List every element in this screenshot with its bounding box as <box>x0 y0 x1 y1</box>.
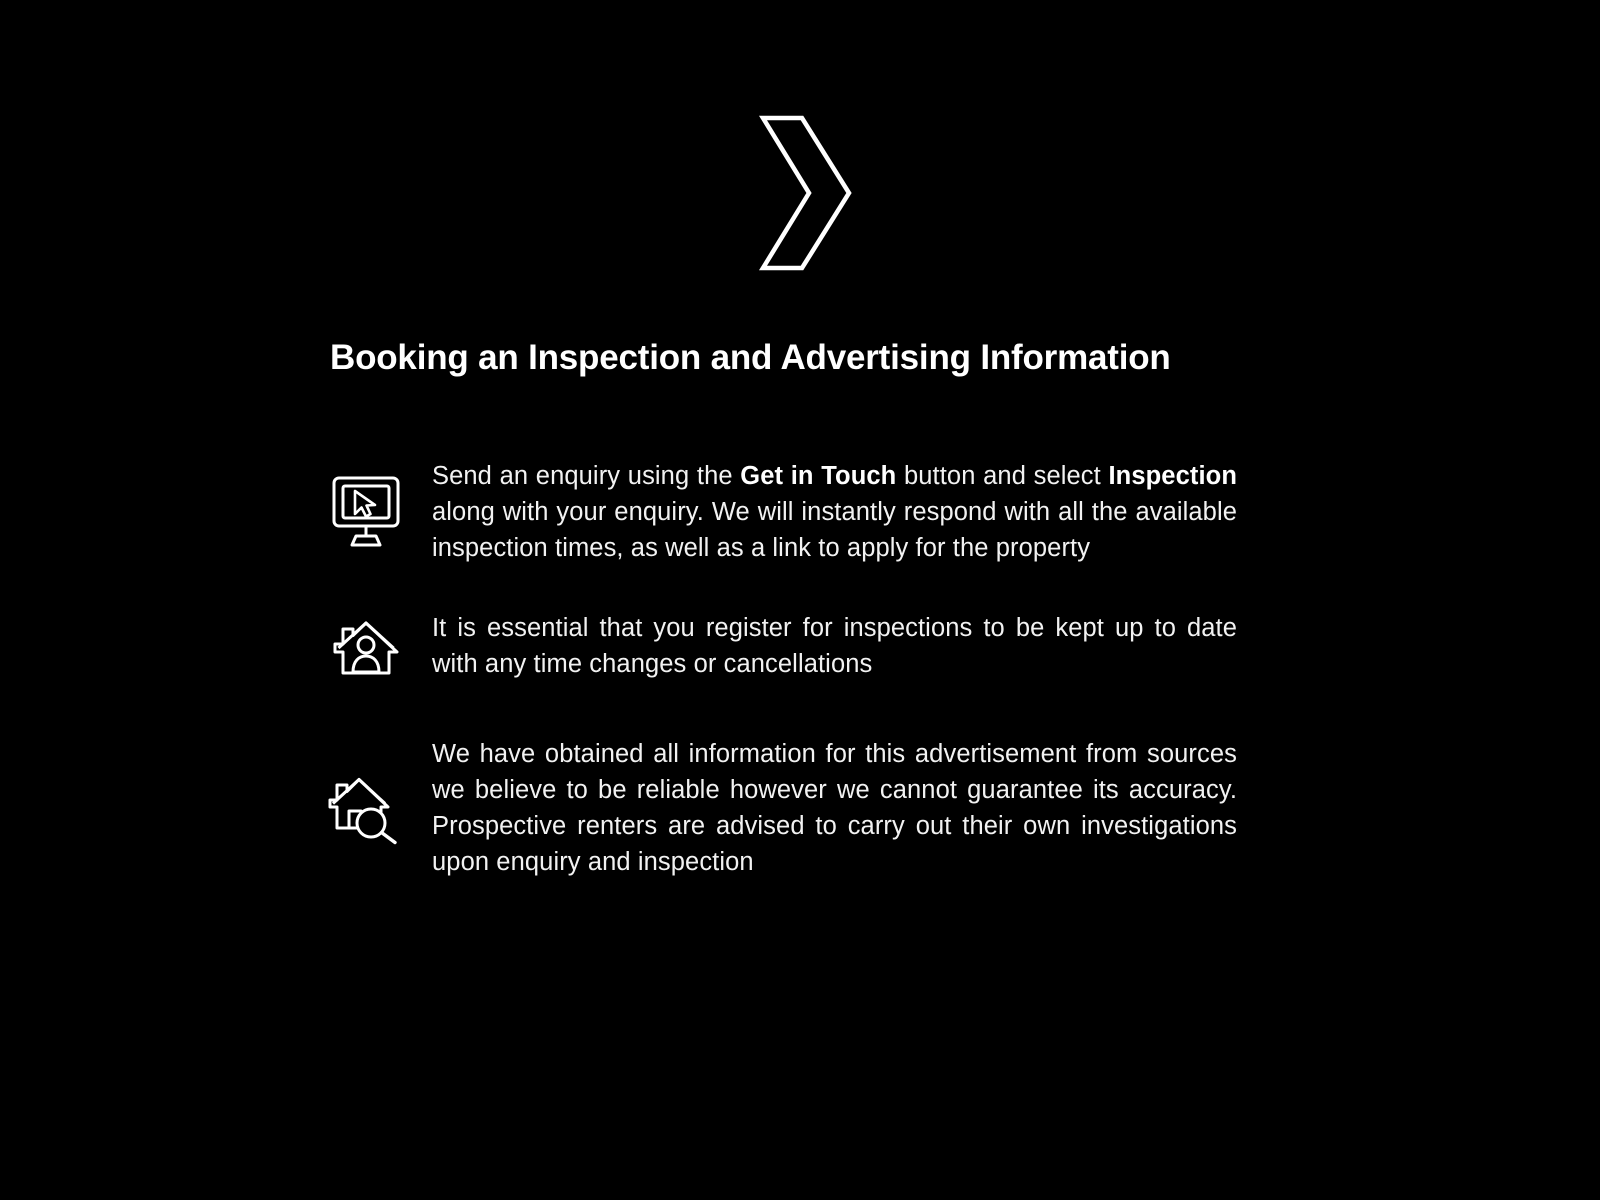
info-list: Send an enquiry using the Get in Touch b… <box>0 440 1600 900</box>
house-person-icon <box>326 606 406 686</box>
house-magnifier-icon <box>326 768 406 848</box>
text-segment-bold: Inspection <box>1108 462 1237 490</box>
brand-logo <box>0 108 1600 278</box>
list-item: We have obtained all information for thi… <box>0 708 1600 900</box>
text-segment: We have obtained all information for thi… <box>432 740 1237 876</box>
text-segment-bold: Get in Touch <box>740 462 896 490</box>
list-item-text: Send an enquiry using the Get in Touch b… <box>432 458 1237 566</box>
monitor-cursor-icon <box>326 472 406 552</box>
list-item-text: It is essential that you register for in… <box>432 610 1237 682</box>
slide-root: Booking an Inspection and Advertising In… <box>0 0 1600 1200</box>
chevron-right-logo-icon <box>745 113 855 273</box>
page-title: Booking an Inspection and Advertising In… <box>330 336 1250 380</box>
list-item-text: We have obtained all information for thi… <box>432 736 1237 880</box>
text-segment: along with your enquiry. We will instant… <box>432 498 1237 562</box>
text-segment: button and select <box>896 462 1108 490</box>
list-item: Send an enquiry using the Get in Touch b… <box>0 440 1600 584</box>
text-segment: Send an enquiry using the <box>432 462 740 490</box>
text-segment: It is essential that you register for in… <box>432 614 1237 678</box>
list-item: It is essential that you register for in… <box>0 584 1600 708</box>
